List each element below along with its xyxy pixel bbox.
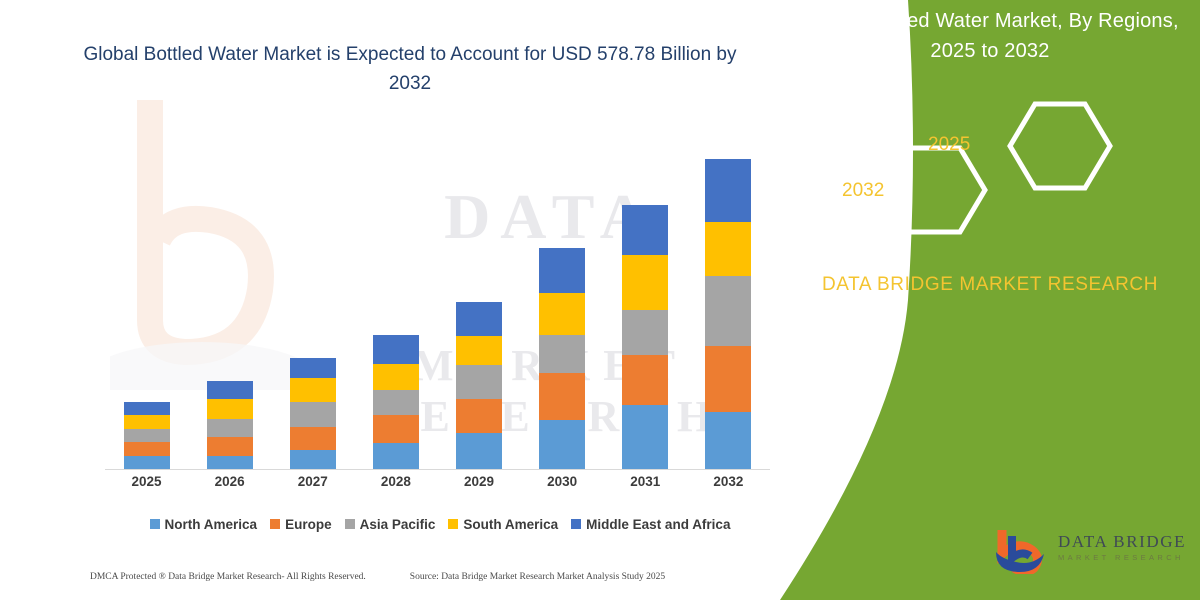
x-axis-label: 2029 [449, 474, 509, 489]
infographic-canvas: DATA MARKET RESEARCH Global Bottled Wate… [0, 0, 1200, 600]
bar-segment [373, 335, 419, 364]
page-title: Global Bottled Water Market is Expected … [70, 40, 750, 98]
x-axis-label: 2027 [283, 474, 343, 489]
legend-swatch-icon [150, 519, 160, 529]
logo-wordmark: DATA BRIDGE MARKET RESEARCH [1058, 532, 1186, 562]
bar-segment [705, 159, 751, 222]
legend-label: Middle East and Africa [586, 517, 730, 532]
company-logo: DATA BRIDGE MARKET RESEARCH [992, 528, 1188, 580]
bar-group-2030 [539, 248, 585, 469]
bar-segment [207, 456, 253, 469]
legend-label: South America [463, 517, 558, 532]
panel-title: Global Bottled Water Market, By Regions,… [790, 6, 1190, 66]
legend-label: North America [165, 517, 258, 532]
hexagon-group [842, 96, 1172, 236]
bar-segment [539, 373, 585, 420]
bar-segment [622, 405, 668, 469]
bar-segment [456, 336, 502, 365]
bar-group-2029 [456, 302, 502, 469]
legend-label: Asia Pacific [360, 517, 436, 532]
legend-item[interactable]: Asia Pacific [345, 517, 436, 532]
bar-segment [705, 412, 751, 469]
bar-segment [290, 427, 336, 450]
legend-item[interactable]: Middle East and Africa [571, 517, 730, 532]
bar-segment [456, 302, 502, 336]
bar-group-2027 [290, 358, 336, 469]
legend-swatch-icon [270, 519, 280, 529]
legend-item[interactable]: North America [150, 517, 258, 532]
bar-segment [207, 419, 253, 437]
footer: DMCA Protected ® Data Bridge Market Rese… [90, 568, 770, 586]
legend-swatch-icon [571, 519, 581, 529]
x-axis-label: 2026 [200, 474, 260, 489]
bar-group-2025 [124, 402, 170, 469]
bar-segment [124, 456, 170, 469]
bar-segment [622, 205, 668, 255]
bar-segment [705, 346, 751, 412]
legend-swatch-icon [448, 519, 458, 529]
x-axis-line [105, 469, 770, 470]
footer-source: Source: Data Bridge Market Research Mark… [410, 572, 665, 582]
green-panel-content: Global Bottled Water Market, By Regions,… [780, 0, 1200, 600]
x-axis-label: 2030 [532, 474, 592, 489]
logo-name: DATA BRIDGE [1058, 532, 1186, 552]
bar-segment [539, 420, 585, 469]
bar-segment [456, 365, 502, 399]
bar-segment [290, 402, 336, 427]
legend-item[interactable]: Europe [270, 517, 332, 532]
logo-mark-icon [992, 528, 1056, 574]
legend-item[interactable]: South America [448, 517, 558, 532]
x-axis-label: 2025 [117, 474, 177, 489]
x-axis-label: 2032 [698, 474, 758, 489]
bar-segment [124, 402, 170, 415]
hexagon-2032-label: 2032 [842, 180, 884, 202]
x-axis-label: 2031 [615, 474, 675, 489]
bar-segment [705, 276, 751, 346]
bar-group-2028 [373, 335, 419, 469]
bar-segment [290, 450, 336, 469]
bar-segment [622, 310, 668, 355]
legend-swatch-icon [345, 519, 355, 529]
bar-segment [290, 378, 336, 402]
bar-segment [124, 429, 170, 442]
bar-segment [373, 364, 419, 390]
legend-label: Europe [285, 517, 332, 532]
footer-copyright: DMCA Protected ® Data Bridge Market Rese… [90, 572, 366, 582]
bar-group-2026 [207, 381, 253, 469]
bar-group-2031 [622, 205, 668, 469]
bar-segment [539, 335, 585, 373]
bar-segment [207, 437, 253, 456]
chart-legend: North AmericaEuropeAsia PacificSouth Ame… [105, 512, 775, 536]
bar-segment [373, 443, 419, 469]
bar-segment [622, 255, 668, 310]
bar-segment [207, 399, 253, 419]
bar-series-container [105, 149, 770, 469]
bar-segment [622, 355, 668, 405]
bar-segment [124, 442, 170, 456]
bar-segment [373, 390, 419, 415]
bar-segment [124, 415, 170, 429]
hexagon-2025-shape [1010, 104, 1110, 188]
bar-segment [705, 222, 751, 276]
hexagon-2025-label: 2025 [928, 134, 970, 156]
bar-segment [539, 293, 585, 335]
bar-segment [290, 358, 336, 378]
x-axis-label: 2028 [366, 474, 426, 489]
stacked-bar-chart [105, 140, 770, 470]
brand-name: DATA BRIDGE MARKET RESEARCH [800, 272, 1180, 298]
bar-segment [373, 415, 419, 443]
bar-segment [539, 248, 585, 293]
bar-group-2032 [705, 159, 751, 469]
hexagon-2032-shape [885, 148, 985, 232]
x-axis-labels: 20252026202720282029203020312032 [105, 474, 770, 496]
bar-segment [456, 433, 502, 469]
logo-tagline: MARKET RESEARCH [1058, 553, 1186, 562]
bar-segment [207, 381, 253, 399]
bar-segment [456, 399, 502, 433]
